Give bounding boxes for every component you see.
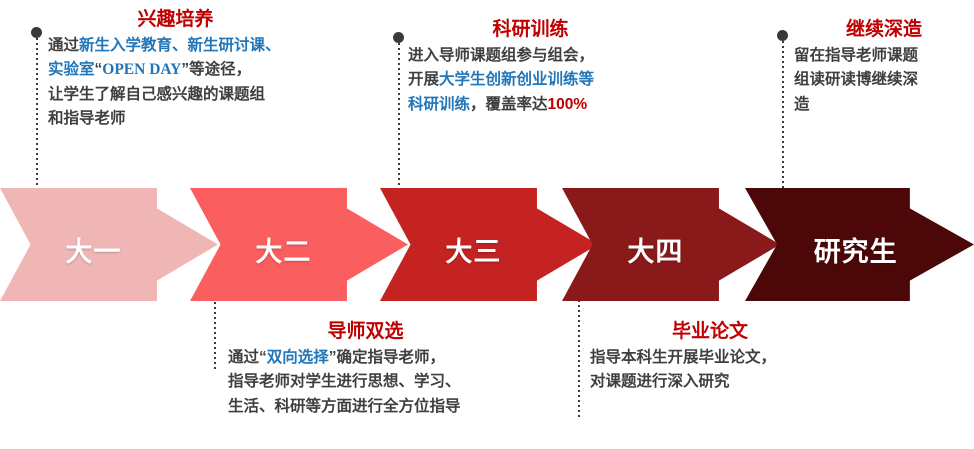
text-segment: 通过 [228,349,259,366]
text-segment: 造 [794,96,810,113]
callout-text-line: 生活、科研等方面进行全方位指导 [228,395,588,419]
connector-dot-top-stage3 [393,32,404,43]
callout-text-line: 指导本科生开展毕业论文， [590,346,890,370]
stage-label-2: 大二 [255,230,311,269]
text-segment: 指导本科生开展毕业论文， [590,349,776,366]
text-segment: 双向选择 [267,349,329,366]
callout-text-line: 进入导师课题组参与组会， [408,44,708,68]
text-segment: 对课题进行深入研究 [590,373,730,390]
callout-further-study-body: 留在指导老师课题组读研读博继续深造 [794,44,974,117]
text-segment: 指导老师对学生进行思想、学习、 [228,373,461,390]
connector-line-stage3 [398,38,400,196]
stage-label-1: 大一 [65,230,121,269]
text-segment: 大学生创新创业训练等 [439,71,594,88]
callout-thesis-body: 指导本科生开展毕业论文，对课题进行深入研究 [590,346,890,395]
text-segment: ，覆盖率达 [470,96,548,113]
callout-text-line: 留在指导老师课题 [794,44,974,68]
stage-label-5: 研究生 [814,230,898,269]
text-segment: 新生入学教育、新生研讨课、 [79,37,281,54]
callout-text-line: 科研训练，覆盖率达100% [408,93,708,117]
text-segment: 实验室 [48,61,95,78]
stage-label-3: 大三 [445,230,501,269]
callout-text-line: 让学生了解自己感兴趣的课题组 [48,83,378,107]
callout-text-line: 对课题进行深入研究 [590,370,890,394]
text-segment: 通过 [48,37,79,54]
text-segment: ” [329,349,337,366]
callout-text-line: 通过“双向选择”确定指导老师， [228,346,588,370]
connector-line-stage1 [36,33,38,196]
callout-mentor-selection-title: 导师双选 [228,320,503,344]
callout-further-study-title: 继续深造 [794,18,974,42]
connector-dot-top-stage5 [777,30,788,41]
text-segment: 100% [548,96,588,113]
text-segment: 进入导师课题组参与组会， [408,47,594,64]
callout-thesis: 毕业论文 指导本科生开展毕业论文，对课题进行深入研究 [590,320,890,395]
stage-label-4: 大四 [627,230,683,269]
connector-line-stage5 [782,36,784,204]
callout-interest-body: 通过新生入学教育、新生研讨课、实验室“OPEN DAY”等途径，让学生了解自己感… [48,34,378,132]
pathway-diagram: 大一 大二 大三 大四 研究生 兴趣培养 通过新生入学教育、新生研讨课、实验室“… [0,0,974,449]
callout-text-line: 开展大学生创新创业训练等 [408,68,708,92]
callout-thesis-title: 毕业论文 [590,320,830,344]
text-segment: 确定指导老师， [337,349,446,366]
text-segment: 科研训练 [408,96,470,113]
callout-research-training-title: 科研训练 [408,18,653,42]
callout-text-line: 指导老师对学生进行思想、学习、 [228,370,588,394]
text-segment: 和指导老师 [48,110,126,127]
text-segment: ” [181,61,189,78]
connector-dot-top-stage1 [31,27,42,38]
text-segment: 等途径， [189,61,251,78]
callout-text-line: 通过新生入学教育、新生研讨课、 [48,34,378,58]
callout-further-study: 继续深造 留在指导老师课题组读研读博继续深造 [794,18,974,117]
text-segment: 组读研读博继续深 [794,71,918,88]
callout-interest: 兴趣培养 通过新生入学教育、新生研讨课、实验室“OPEN DAY”等途径，让学生… [48,8,378,132]
text-segment: “ [259,349,267,366]
callout-text-line: 和指导老师 [48,107,378,131]
callout-mentor-selection: 导师双选 通过“双向选择”确定指导老师，指导老师对学生进行思想、学习、生活、科研… [228,320,588,419]
callout-research-training-body: 进入导师课题组参与组会，开展大学生创新创业训练等科研训练，覆盖率达100% [408,44,708,117]
callout-research-training: 科研训练 进入导师课题组参与组会，开展大学生创新创业训练等科研训练，覆盖率达10… [408,18,708,117]
callout-text-line: 组读研读博继续深 [794,68,974,92]
text-segment: OPEN DAY [102,61,181,78]
callout-mentor-selection-body: 通过“双向选择”确定指导老师，指导老师对学生进行思想、学习、生活、科研等方面进行… [228,346,588,419]
callout-text-line: 实验室“OPEN DAY”等途径， [48,58,378,82]
callout-text-line: 造 [794,93,974,117]
text-segment: 开展 [408,71,439,88]
text-segment: 让学生了解自己感兴趣的课题组 [48,86,265,103]
callout-interest-title: 兴趣培养 [48,8,303,32]
text-segment: 生活、科研等方面进行全方位指导 [228,398,461,415]
text-segment: 留在指导老师课题 [794,47,918,64]
